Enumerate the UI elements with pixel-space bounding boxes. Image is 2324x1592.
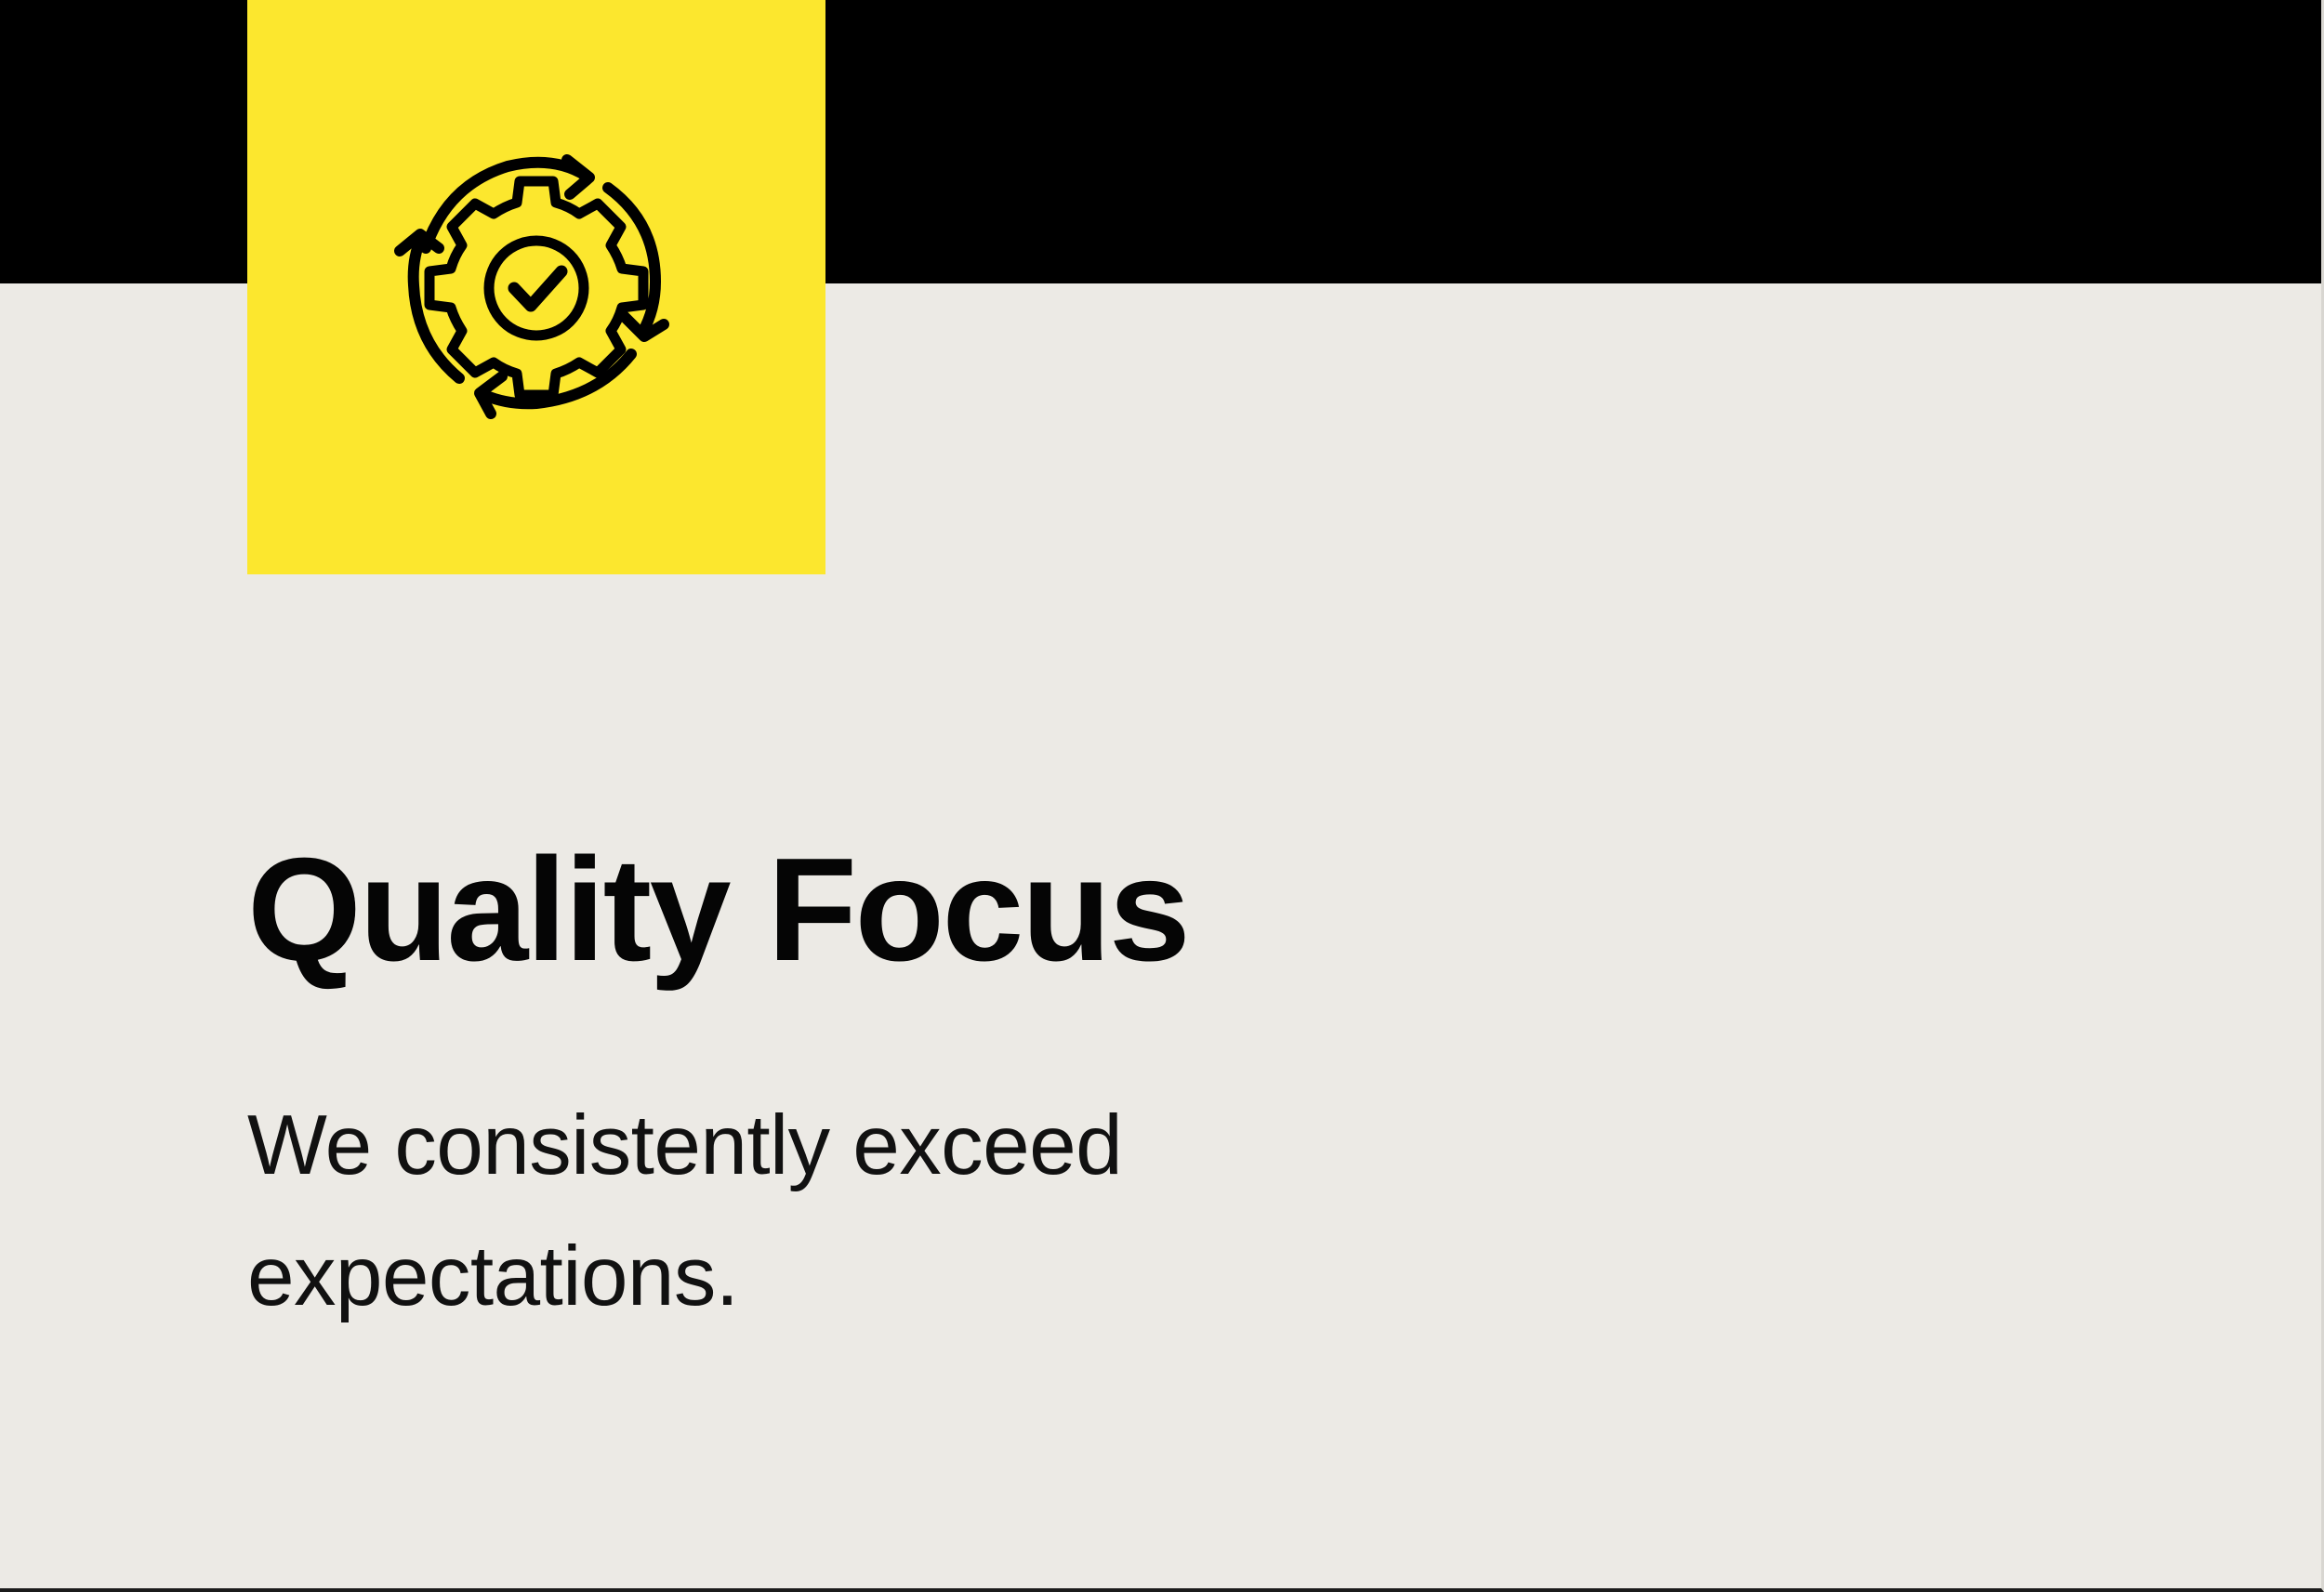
feature-card: Quality Focus We consistently exceed exp…: [0, 0, 2324, 1592]
text-block: Quality Focus We consistently exceed exp…: [247, 836, 1828, 1342]
icon-tile: [247, 0, 825, 574]
page-title: Quality Focus: [247, 836, 1828, 983]
gear-check-cycle-icon: [388, 144, 685, 423]
page-description: We consistently exceed expectations.: [247, 1080, 1484, 1342]
